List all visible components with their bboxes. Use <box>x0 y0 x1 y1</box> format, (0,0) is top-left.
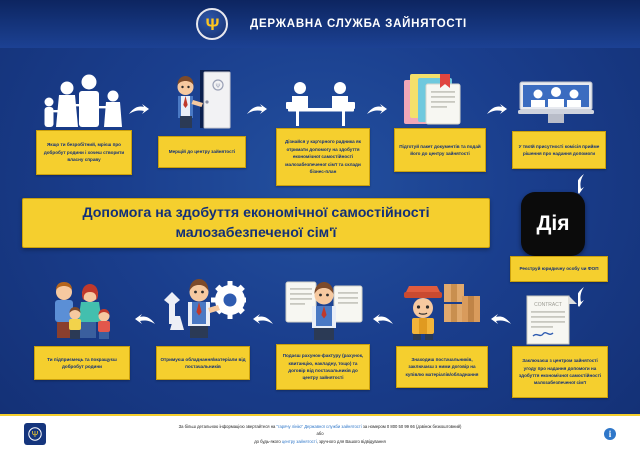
infographic-page: Ψ ДЕРЖАВНА СЛУЖБА ЗАЙНЯТОСТІ Ψ <box>0 0 640 452</box>
man-at-door-icon: Ψ <box>160 68 240 130</box>
arrow-down-to-diia-icon <box>578 173 594 195</box>
employment-service-badge-icon: Ψ <box>24 423 46 445</box>
diia-label: Дія <box>536 212 569 236</box>
documents-folder-icon <box>398 72 468 126</box>
worker-gear-icon <box>160 272 246 340</box>
commission-meeting-icon <box>516 78 596 128</box>
step-box-4[interactable]: Підготуй пакет документів та подай його … <box>394 128 486 172</box>
step-box-6[interactable]: Заключаєш з центром зайнятості угоду про… <box>512 346 608 398</box>
arrow-right-2-icon <box>246 104 268 120</box>
step-box-10[interactable]: Ти підприємець та покращуєш добробут род… <box>34 346 130 380</box>
arrow-right-1-icon <box>128 104 150 120</box>
page-header: Ψ ДЕРЖАВНА СЛУЖБА ЗАЙНЯТОСТІ <box>0 0 640 48</box>
arrow-left-1-icon <box>134 314 156 330</box>
footer-contact-text: За більш детальною інформацією звертайте… <box>179 423 462 445</box>
info-icon[interactable]: i <box>604 428 616 440</box>
arrow-left-3-icon <box>372 314 394 330</box>
step-box-3[interactable]: Дізнайся у кар'єрного радника як отримат… <box>276 128 370 186</box>
arrow-right-3-icon <box>366 104 388 120</box>
step-box-2[interactable]: Мерщій до центру зайнятості <box>158 136 246 168</box>
banner-line-2: малозабезпеченої сім'ї <box>175 223 336 243</box>
supplier-boxes-icon <box>400 278 484 340</box>
emblem-trident-glyph: Ψ <box>206 16 219 33</box>
page-title: ДЕРЖАВНА СЛУЖБА ЗАЙНЯТОСТІ <box>250 18 467 30</box>
family-silhouette-icon <box>35 72 135 127</box>
page-footer: Ψ За більш детальною інформацією звертай… <box>0 414 640 452</box>
footer-line-1: За більш детальною інформацією звертайте… <box>179 423 462 430</box>
diia-caption-box[interactable]: Реєструй юридичну особу чи ФОП <box>510 256 608 282</box>
happy-family-icon <box>42 278 126 340</box>
footer-line-2: або <box>179 430 462 437</box>
contract-document-icon: CONTRACT <box>523 294 581 346</box>
svg-text:Ψ: Ψ <box>32 430 39 439</box>
step-box-1[interactable]: Якщо ти безробітний, мрієш про добробут … <box>36 130 132 175</box>
arrow-left-4-icon <box>490 314 512 330</box>
svg-text:Ψ: Ψ <box>215 84 220 90</box>
diia-app-tile[interactable]: Дія <box>521 192 585 256</box>
footer-line-3: до будь-якого центру зайнятості, зручног… <box>179 438 462 445</box>
step-box-7[interactable]: Знаходиш постачальників, заключаєш з ним… <box>396 346 488 388</box>
main-banner: Допомога на здобуття економічної самості… <box>22 198 490 248</box>
employment-center-link[interactable]: центру зайнятості <box>282 439 317 444</box>
step-box-9[interactable]: Отримуєш обладнання/матеріали від постач… <box>156 346 250 380</box>
hotline-link[interactable]: "гарячу лінію" Державної служби зайнятос… <box>277 424 362 429</box>
employment-service-emblem-icon: Ψ <box>196 8 228 40</box>
step-box-5[interactable]: У твоїй присутності комісія прийме рішен… <box>512 131 606 169</box>
banner-line-1: Допомога на здобуття економічної самості… <box>82 203 429 223</box>
step-box-8[interactable]: Подаєш рахунок-фактуру (рахунок, квитанц… <box>276 344 370 390</box>
arrow-left-2-icon <box>252 314 274 330</box>
worker-invoice-icon <box>282 276 366 340</box>
consultation-desk-icon <box>282 80 362 128</box>
svg-text:CONTRACT: CONTRACT <box>534 302 562 308</box>
arrow-right-4-icon <box>486 104 508 120</box>
